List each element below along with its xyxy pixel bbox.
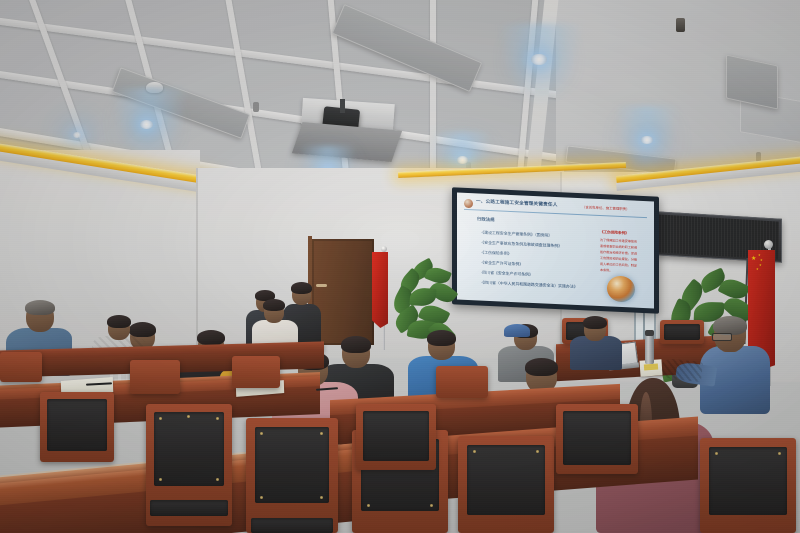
flag-star-large: ★ [751, 256, 756, 262]
chair-front-1[interactable] [146, 404, 232, 526]
flag-star-1: ★ [758, 254, 761, 257]
chair-mid-2[interactable] [356, 404, 436, 470]
slide-sidebar-heading: 《工伤保险条例》 [600, 230, 629, 236]
chair-mid-1[interactable] [40, 392, 114, 462]
chair-back-3[interactable] [436, 366, 488, 398]
slide-bullet-5: ·《四川省〈中华人民共和国道路交通安全法〉实施办法》 [481, 280, 578, 290]
slide-title: 一、公路工程施工安全管理关键责任人 [476, 198, 558, 208]
chair-front-right[interactable] [700, 438, 796, 533]
projector-bracket [340, 99, 345, 113]
smoke-detector-icon [146, 82, 163, 93]
document-highlight [644, 364, 658, 371]
thermos-bottle [645, 334, 654, 364]
chair-front-4[interactable] [458, 436, 554, 533]
flag-finial-right [764, 240, 773, 249]
sprinkler-icon-2 [253, 102, 259, 112]
slide-sidebar-line-5: 本条例。 [600, 267, 612, 273]
flag-star-4: ★ [756, 268, 759, 271]
globe-icon [607, 275, 635, 302]
slide-title-note: （含总包单位、施工管理职责） [582, 204, 629, 211]
downlight-1 [531, 54, 547, 65]
downlight-3 [641, 136, 653, 144]
flag-star-2: ★ [760, 259, 763, 262]
chair-back-2[interactable] [232, 356, 280, 388]
blue-cap-icon [504, 324, 530, 337]
chair-mid-3[interactable] [556, 404, 638, 474]
downlight-2 [140, 120, 153, 129]
slide-bullet-4: ·四川省《安全生产许可条例》 [481, 270, 533, 278]
flag-finial-left [381, 246, 387, 252]
slide-bullet-2: ·《工伤保险条例》 [481, 250, 511, 257]
slide-bullet-3: ·《安全生产许可证条例》 [481, 260, 523, 268]
downlight-6 [73, 132, 81, 138]
chair-back-4[interactable] [0, 352, 42, 382]
downlight-4 [457, 156, 468, 164]
thermos-lid [645, 330, 654, 336]
sprinkler-icon [676, 18, 685, 32]
chair-front-2[interactable] [246, 418, 338, 533]
chair-back-1[interactable] [130, 360, 180, 394]
projected-slide: 一、公路工程施工安全管理关键责任人 （含总包单位、施工管理职责） 行政法规 ·《… [457, 193, 654, 309]
flag-star-3: ★ [759, 264, 762, 267]
meeting-room-photo: 一、公路工程施工安全管理关键责任人 （含总包单位、施工管理职责） 行政法规 ·《… [0, 0, 800, 533]
glasses-icon [712, 333, 732, 341]
chinese-flag-left [372, 252, 388, 328]
slide-bullet-0: ·《建设工程安全生产管理条例》（国务院） [481, 230, 552, 239]
slide-title-bullet-icon [464, 199, 473, 208]
slide-section-heading: 行政法规 [477, 216, 495, 223]
slide-bullet-1: ·《安全生产事故应急条例及事故调查处理条例》 [481, 240, 562, 250]
